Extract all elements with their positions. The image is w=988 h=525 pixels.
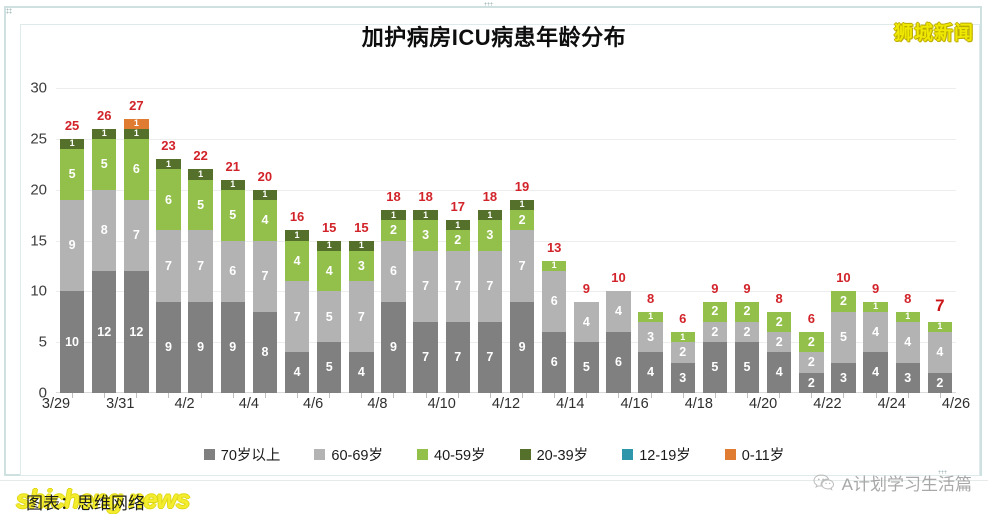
bar-segment[interactable]: 4 <box>928 332 952 373</box>
bar-total-label: 25 <box>56 118 88 133</box>
legend-label: 60-69岁 <box>331 444 383 465</box>
x-axis-label: 4/24 <box>862 396 922 412</box>
bar-segment[interactable]: 7 <box>349 281 373 352</box>
bar-segment[interactable]: 4 <box>253 200 277 241</box>
bar-segment[interactable]: 7 <box>510 230 534 301</box>
bar-total-label: 27 <box>120 98 152 113</box>
bar-total-label: 23 <box>152 138 184 153</box>
bar-stack[interactable]: 4731 <box>349 241 373 393</box>
bar-stack[interactable]: 341 <box>896 312 920 393</box>
legend-label: 40-59岁 <box>434 444 486 465</box>
legend-label: 70岁以上 <box>221 444 281 465</box>
bar-segment[interactable]: 2 <box>767 332 791 352</box>
bar-segment[interactable]: 2 <box>799 352 823 372</box>
legend-label: 20-39岁 <box>537 444 589 465</box>
bar-segment[interactable]: 5 <box>221 190 245 241</box>
bar-segment[interactable]: 1 <box>638 312 662 322</box>
bar-total-label: 19 <box>506 179 538 194</box>
watermark-topright: 狮城新闻 <box>894 18 974 45</box>
bar-segment[interactable]: 8 <box>253 312 277 393</box>
chart-legend: 70岁以上60-69岁40-59岁20-39岁12-19岁0-11岁 <box>0 444 988 465</box>
bar-segment[interactable]: 5 <box>831 312 855 363</box>
bar-segment[interactable]: 1 <box>253 190 277 200</box>
bar-total-label: 8 <box>763 291 795 306</box>
bar-total-label: 17 <box>442 199 474 214</box>
bar-total-label: 18 <box>410 189 442 204</box>
bar-total-label: 13 <box>538 240 570 255</box>
bar-segment[interactable]: 7 <box>446 251 470 322</box>
bar-column[interactable]: 8341 <box>892 88 924 393</box>
bar-segment[interactable]: 1 <box>478 210 502 220</box>
legend-item-0to11[interactable]: 0-11岁 <box>725 444 784 465</box>
bar-column[interactable]: 27127611 <box>120 88 152 393</box>
bar-segment[interactable]: 2 <box>799 373 823 393</box>
bar-segment[interactable]: 5 <box>735 342 759 393</box>
bar-segment[interactable]: 6 <box>381 241 405 302</box>
bar-segment[interactable]: 1 <box>671 332 695 342</box>
bar-segment[interactable]: 3 <box>896 363 920 394</box>
bar-total-label: 6 <box>667 311 699 326</box>
bar-segment[interactable]: 4 <box>285 352 309 393</box>
bar-segment[interactable]: 3 <box>831 363 855 394</box>
bar-segment[interactable]: 4 <box>896 322 920 363</box>
x-axis-labels: 3/29.3/31.4/2.4/4.4/6.4/8.4/10.4/12.4/14… <box>56 396 956 422</box>
bar-segment[interactable]: 9 <box>510 302 534 394</box>
bar-segment[interactable]: 7 <box>478 322 502 393</box>
x-axis-label: 3/31 <box>90 396 150 412</box>
bar-segment[interactable]: 4 <box>863 352 887 393</box>
bar-column[interactable]: 13661 <box>538 88 570 393</box>
bar-total-label: 6 <box>795 311 827 326</box>
bar-segment[interactable]: 2 <box>703 302 727 322</box>
bar-stack[interactable]: 9651 <box>221 180 245 393</box>
bar-series-container: 2510951261285127127611239761229751219651… <box>56 88 956 393</box>
bar-segment[interactable]: 6 <box>221 241 245 302</box>
bar-column[interactable]: 229751 <box>185 88 217 393</box>
bar-stack[interactable]: 12851 <box>92 129 116 393</box>
bar-total-label: 15 <box>345 220 377 235</box>
bar-segment[interactable]: 4 <box>638 352 662 393</box>
source-note: 图表：思维网络 <box>26 489 145 514</box>
bar-stack[interactable]: 522 <box>735 302 759 393</box>
legend-swatch-icon <box>520 449 531 460</box>
bar-column[interactable]: 10352 <box>827 88 859 393</box>
bar-total-label: 16 <box>281 209 313 224</box>
bar-segment[interactable]: 6 <box>156 169 180 230</box>
bar-segment[interactable]: 9 <box>60 200 84 292</box>
bar-segment[interactable]: 9 <box>156 302 180 394</box>
bar-segment[interactable]: 2 <box>703 322 727 342</box>
bar-segment[interactable]: 10 <box>60 291 84 393</box>
bar-segment[interactable]: 7 <box>253 241 277 312</box>
bar-segment[interactable]: 1 <box>413 210 437 220</box>
bar-stack[interactable]: 321 <box>671 332 695 393</box>
bar-stack[interactable]: 7721 <box>446 220 470 393</box>
y-axis-tick-label: 15 <box>30 232 47 249</box>
x-axis-label: 3/29 <box>26 396 86 412</box>
bar-segment[interactable]: 1 <box>92 129 116 139</box>
bar-column[interactable]: 8431 <box>635 88 667 393</box>
bar-segment[interactable]: 4 <box>767 352 791 393</box>
bar-segment[interactable]: 2 <box>671 342 695 362</box>
bar-column[interactable]: 208741 <box>249 88 281 393</box>
bar-total-label: 8 <box>892 291 924 306</box>
bar-segment[interactable]: 4 <box>863 312 887 353</box>
legend-swatch-icon <box>622 449 633 460</box>
x-axis-label: 4/10 <box>412 396 472 412</box>
bar-segment[interactable]: 1 <box>156 159 180 169</box>
bar-total-label: 26 <box>88 108 120 123</box>
legend-item-60to69[interactable]: 60-69岁 <box>314 444 383 465</box>
bar-segment[interactable]: 1 <box>221 180 245 190</box>
bar-segment[interactable]: 1 <box>446 220 470 230</box>
chart-title: 加护病房ICU病患年龄分布 <box>0 20 988 52</box>
bar-stack[interactable]: 9621 <box>381 210 405 393</box>
plot-area: 051015202530 251095126128512712761123976… <box>56 88 956 393</box>
legend-label: 0-11岁 <box>742 444 784 465</box>
bar-segment[interactable]: 5 <box>317 342 341 393</box>
bar-segment[interactable]: 4 <box>574 302 598 343</box>
bar-stack[interactable]: 522 <box>703 302 727 393</box>
bar-segment[interactable]: 12 <box>124 271 148 393</box>
bar-segment[interactable]: 1 <box>928 322 952 332</box>
x-axis-label: 4/6 <box>283 396 343 412</box>
x-axis-label: 4/4 <box>219 396 279 412</box>
bar-stack[interactable]: 127611 <box>124 119 148 393</box>
bar-segment[interactable]: 7 <box>478 251 502 322</box>
bar-segment[interactable]: 9 <box>188 302 212 394</box>
bar-stack[interactable]: 9761 <box>156 159 180 393</box>
bar-segment[interactable]: 2 <box>446 230 470 250</box>
bar-column[interactable]: 2510951 <box>56 88 88 393</box>
bar-total-label: 7 <box>924 296 956 316</box>
bar-total-label: 9 <box>570 281 602 296</box>
bar-column[interactable]: 6321 <box>667 88 699 393</box>
bar-segment[interactable]: 5 <box>60 149 84 200</box>
legend-swatch-icon <box>204 449 215 460</box>
bar-segment[interactable]: 9 <box>221 302 245 394</box>
bar-stack[interactable]: 441 <box>863 302 887 393</box>
bar-segment[interactable]: 7 <box>446 322 470 393</box>
bar-segment[interactable]: 6 <box>606 332 630 393</box>
bar-segment[interactable]: 7 <box>285 281 309 352</box>
frame-resize-handle-topleft[interactable] <box>6 8 12 14</box>
bar-column[interactable]: 164741 <box>281 88 313 393</box>
bar-segment[interactable]: 3 <box>671 363 695 394</box>
bar-segment[interactable]: 2 <box>799 332 823 352</box>
bar-segment[interactable]: 2 <box>735 322 759 342</box>
bar-stack[interactable]: 4741 <box>285 230 309 393</box>
bar-segment[interactable]: 1 <box>188 169 212 179</box>
y-axis-tick-label: 30 <box>30 80 47 97</box>
bar-segment[interactable]: 2 <box>510 210 534 230</box>
bar-segment[interactable]: 5 <box>317 291 341 342</box>
bar-column[interactable]: 6222 <box>795 88 827 393</box>
bar-total-label: 9 <box>731 281 763 296</box>
bar-column[interactable]: 177721 <box>442 88 474 393</box>
bar-stack[interactable]: 422 <box>767 312 791 393</box>
bar-segment[interactable]: 6 <box>124 139 148 200</box>
bar-column[interactable]: 219651 <box>217 88 249 393</box>
x-axis-label: 4/14 <box>540 396 600 412</box>
bar-segment[interactable]: 1 <box>317 241 341 251</box>
bar-segment[interactable]: 12 <box>92 271 116 393</box>
bar-column[interactable]: 199721 <box>506 88 538 393</box>
bar-segment[interactable]: 9 <box>381 302 405 394</box>
y-axis-tick-label: 20 <box>30 181 47 198</box>
bar-column[interactable]: 8422 <box>763 88 795 393</box>
y-axis-tick-label: 5 <box>39 334 47 351</box>
y-axis-tick-label: 25 <box>30 130 47 147</box>
bar-stack[interactable]: 431 <box>638 312 662 393</box>
bar-stack[interactable]: 661 <box>542 261 566 393</box>
wechat-credit: A计划学习生活篇 <box>813 470 972 495</box>
bar-segment[interactable]: 7 <box>413 322 437 393</box>
bar-total-label: 9 <box>699 281 731 296</box>
x-axis-label: 4/20 <box>733 396 793 412</box>
bar-segment[interactable]: 2 <box>381 220 405 240</box>
bar-column[interactable]: 7241 <box>924 88 956 393</box>
bar-column[interactable]: 189621 <box>377 88 409 393</box>
x-axis-label: 4/26 <box>926 396 986 412</box>
legend-swatch-icon <box>314 449 325 460</box>
bar-column[interactable]: 154731 <box>345 88 377 393</box>
legend-swatch-icon <box>725 449 736 460</box>
legend-swatch-icon <box>417 449 428 460</box>
bar-segment[interactable]: 4 <box>349 352 373 393</box>
bar-segment[interactable]: 3 <box>413 220 437 251</box>
bar-segment[interactable]: 6 <box>542 271 566 332</box>
bar-total-label: 8 <box>635 291 667 306</box>
bar-column[interactable]: 187731 <box>474 88 506 393</box>
bar-column[interactable]: 9522 <box>731 88 763 393</box>
x-axis-label: 4/8 <box>347 396 407 412</box>
legend-item-40to59[interactable]: 40-59岁 <box>417 444 486 465</box>
bar-stack[interactable]: 352 <box>831 291 855 393</box>
bar-segment[interactable]: 8 <box>92 190 116 271</box>
bar-column[interactable]: 239761 <box>152 88 184 393</box>
bar-stack[interactable]: 7731 <box>478 210 502 393</box>
bar-total-label: 18 <box>377 189 409 204</box>
bar-stack[interactable]: 5541 <box>317 241 341 393</box>
chart-screenshot: 加护病房ICU病患年龄分布 狮城新闻 051015202530 25109512… <box>0 0 988 525</box>
bar-segment[interactable]: 1 <box>896 312 920 322</box>
bar-total-label: 21 <box>217 159 249 174</box>
bar-stack[interactable]: 64 <box>606 291 630 393</box>
legend-item-12to19[interactable]: 12-19岁 <box>622 444 691 465</box>
bar-segment[interactable]: 7 <box>413 251 437 322</box>
legend-item-20to39[interactable]: 20-39岁 <box>520 444 589 465</box>
bar-segment[interactable]: 6 <box>542 332 566 393</box>
x-axis-label: 4/2 <box>155 396 215 412</box>
y-axis-tick-label: 10 <box>30 283 47 300</box>
bar-segment[interactable]: 1 <box>381 210 405 220</box>
bar-segment[interactable]: 5 <box>574 342 598 393</box>
bar-segment[interactable]: 2 <box>928 373 952 393</box>
bar-stack[interactable]: 9721 <box>510 200 534 393</box>
bar-segment[interactable]: 1 <box>349 241 373 251</box>
bar-stack[interactable]: 7731 <box>413 210 437 393</box>
bar-segment[interactable]: 4 <box>317 251 341 292</box>
wechat-credit-label: A计划学习生活篇 <box>842 470 972 495</box>
bar-column[interactable]: 954 <box>570 88 602 393</box>
bar-total-label: 22 <box>185 148 217 163</box>
bar-segment[interactable]: 7 <box>156 230 180 301</box>
bar-total-label: 10 <box>602 270 634 285</box>
x-axis-label: 4/18 <box>669 396 729 412</box>
bar-total-label: 18 <box>474 189 506 204</box>
bar-stack[interactable]: 9751 <box>188 169 212 393</box>
bar-segment[interactable]: 3 <box>349 251 373 282</box>
bar-total-label: 15 <box>313 220 345 235</box>
bar-column[interactable]: 155541 <box>313 88 345 393</box>
bar-segment[interactable]: 3 <box>478 220 502 251</box>
x-axis-label: 4/22 <box>797 396 857 412</box>
bar-segment[interactable]: 3 <box>638 322 662 353</box>
bar-segment[interactable]: 5 <box>92 139 116 190</box>
bar-total-label: 20 <box>249 169 281 184</box>
bar-column[interactable]: 9522 <box>699 88 731 393</box>
wechat-icon <box>813 474 835 492</box>
bar-column[interactable]: 187731 <box>410 88 442 393</box>
bar-segment[interactable]: 1 <box>124 119 148 129</box>
x-axis-label: 4/12 <box>476 396 536 412</box>
bar-column[interactable]: 1064 <box>602 88 634 393</box>
bar-segment[interactable]: 7 <box>188 230 212 301</box>
bar-stack[interactable]: 241 <box>928 322 952 393</box>
bar-segment[interactable]: 1 <box>542 261 566 271</box>
bar-column[interactable]: 9441 <box>860 88 892 393</box>
bar-stack[interactable]: 54 <box>574 302 598 393</box>
bar-stack[interactable]: 222 <box>799 332 823 393</box>
bar-segment[interactable]: 2 <box>735 302 759 322</box>
bar-segment[interactable]: 7 <box>124 200 148 271</box>
bar-segment[interactable]: 1 <box>60 139 84 149</box>
legend-item-70plus[interactable]: 70岁以上 <box>204 444 281 465</box>
bar-segment[interactable]: 1 <box>863 302 887 312</box>
bar-column[interactable]: 2612851 <box>88 88 120 393</box>
bar-segment[interactable]: 1 <box>285 230 309 240</box>
x-axis-label: 4/16 <box>605 396 665 412</box>
bar-segment[interactable]: 2 <box>831 291 855 311</box>
bar-segment[interactable]: 4 <box>606 291 630 332</box>
bar-total-label: 9 <box>860 281 892 296</box>
bar-segment[interactable]: 2 <box>767 312 791 332</box>
bar-stack[interactable]: 10951 <box>60 139 84 393</box>
bar-segment[interactable]: 4 <box>285 241 309 282</box>
legend-label: 12-19岁 <box>639 444 691 465</box>
bar-segment[interactable]: 1 <box>124 129 148 139</box>
bar-segment[interactable]: 5 <box>188 180 212 231</box>
bar-total-label: 10 <box>827 270 859 285</box>
bar-segment[interactable]: 1 <box>510 200 534 210</box>
bar-segment[interactable]: 5 <box>703 342 727 393</box>
bar-stack[interactable]: 8741 <box>253 190 277 393</box>
frame-resize-handle-top[interactable] <box>484 2 493 6</box>
